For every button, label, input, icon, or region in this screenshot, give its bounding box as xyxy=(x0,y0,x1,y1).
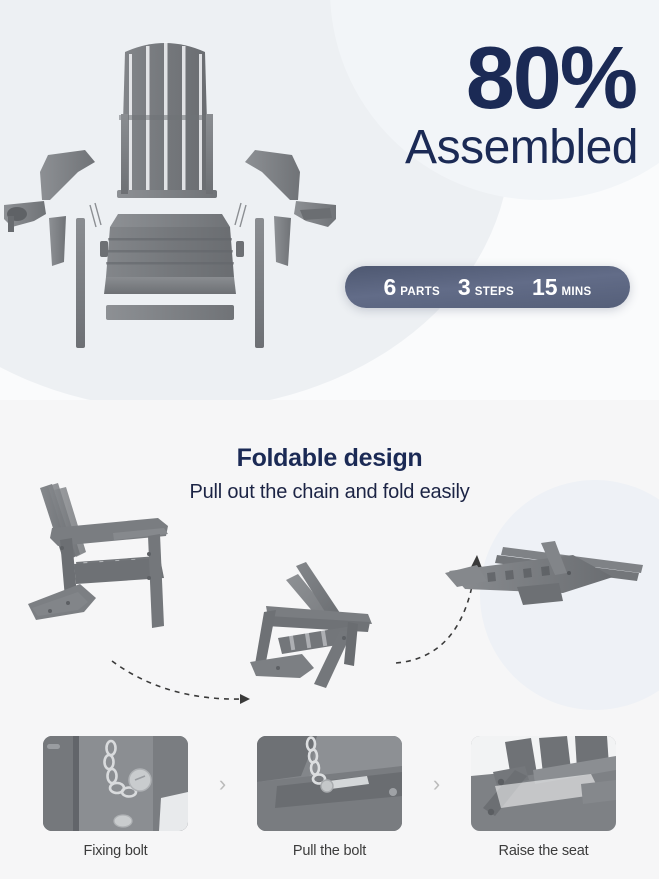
stat-steps-number: 3 xyxy=(458,276,471,299)
foldable-design-section: Foldable design Pull out the chain and f… xyxy=(0,400,659,730)
step-item-2: Pull the bolt xyxy=(240,736,420,859)
part-right-armrest xyxy=(245,150,300,200)
steps-strip: Fixing bolt › xyxy=(0,736,659,859)
part-seat-assembly xyxy=(104,214,236,294)
section-title: Foldable design xyxy=(0,444,659,473)
step-item-3: Raise the seat xyxy=(454,736,634,859)
chair-unfolded-illustration xyxy=(18,478,238,668)
stats-badge: 6 PARTS 3 STEPS 15 MINS xyxy=(345,266,630,308)
stat-mins: 15 MINS xyxy=(523,276,601,299)
stat-steps: 3 STEPS xyxy=(449,276,523,299)
hero-section: 80% Assembled 6 PARTS 3 STEPS 15 MINS xyxy=(0,0,659,400)
step-separator-2: › xyxy=(420,736,454,831)
raised-seat-hinge-photo xyxy=(471,736,616,831)
stat-mins-unit: MINS xyxy=(562,286,592,298)
stat-mins-number: 15 xyxy=(532,276,558,299)
step-caption-1: Fixing bolt xyxy=(84,843,148,859)
stat-parts: 6 PARTS xyxy=(375,276,449,299)
stat-steps-unit: STEPS xyxy=(475,286,514,298)
steps-section: Fixing bolt › xyxy=(0,730,659,879)
headline-block: 80% Assembled xyxy=(340,38,640,173)
step-caption-3: Raise the seat xyxy=(499,843,589,859)
chain-and-bolt-photo xyxy=(43,736,188,831)
part-left-cupholder xyxy=(4,201,46,232)
dashed-curved-arrow-right-icon xyxy=(108,655,268,710)
stat-parts-number: 6 xyxy=(384,276,397,299)
stat-parts-unit: PARTS xyxy=(400,286,440,298)
hand-pulling-bolt-photo xyxy=(257,736,402,831)
part-front-rail xyxy=(106,305,234,320)
step-item-1: Fixing bolt xyxy=(26,736,206,859)
part-left-armrest xyxy=(40,150,95,200)
infographic-page: 80% Assembled 6 PARTS 3 STEPS 15 MINS Fo… xyxy=(0,0,659,879)
part-right-cupholder xyxy=(294,201,336,227)
exploded-chair-parts-diagram xyxy=(0,22,340,372)
page-title: 80% xyxy=(340,38,640,119)
part-backrest xyxy=(117,42,217,198)
chair-folded-flat-illustration xyxy=(443,525,653,615)
step-separator-1: › xyxy=(206,736,240,831)
step-caption-2: Pull the bolt xyxy=(293,843,366,859)
hero-subtitle: Assembled xyxy=(340,123,640,173)
